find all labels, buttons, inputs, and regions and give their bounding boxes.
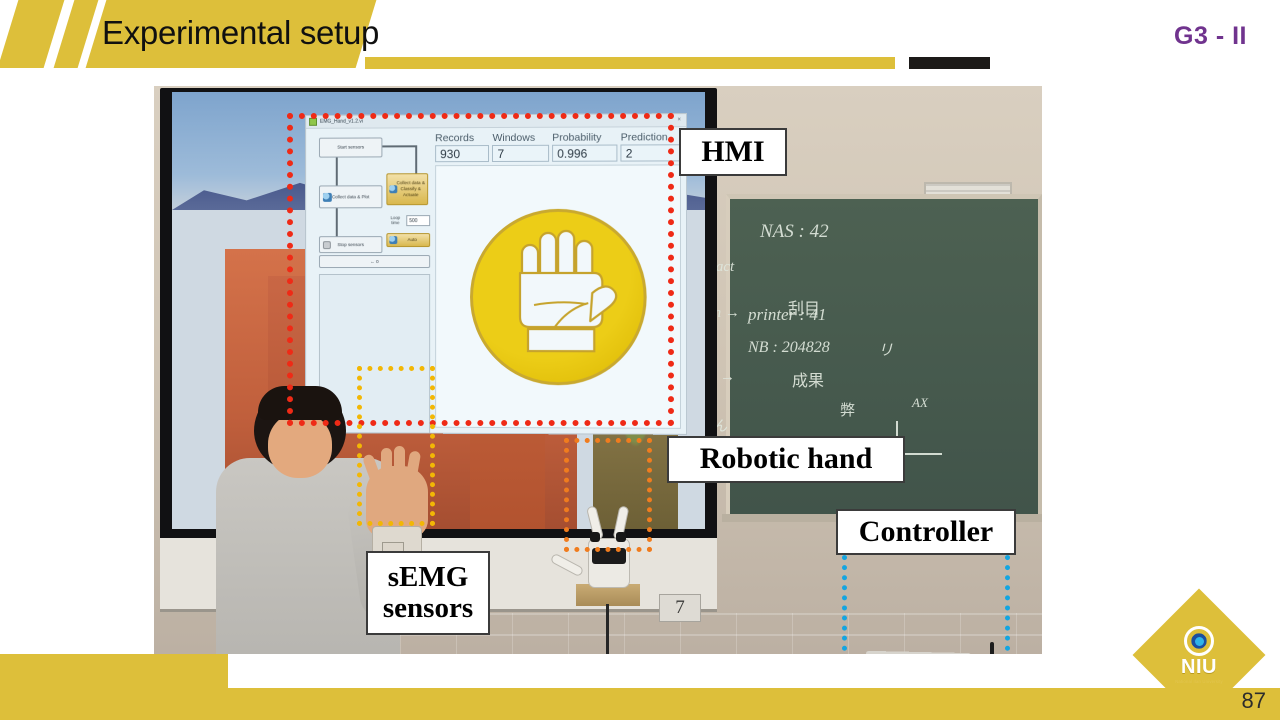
callout-semg-line1: sEMG <box>388 562 469 593</box>
slide-group-tag: G3 - II <box>1174 22 1247 51</box>
niu-logo: NIU National Ilan University <box>1160 616 1238 694</box>
annotation-box-semg <box>357 366 435 526</box>
page-title: Experimental setup <box>102 14 379 52</box>
blackboard-cjk-1: 刮目 <box>788 295 820 319</box>
callout-semg: sEMG sensors <box>366 551 490 635</box>
slide-page-number: 87 <box>1242 688 1266 714</box>
footer-white-notch <box>228 654 1280 688</box>
niu-orbit-icon <box>1184 626 1214 656</box>
blackboard-line-3: NB : 204828 <box>748 339 830 357</box>
header-gold-rule <box>365 57 895 69</box>
callout-hmi: HMI <box>679 128 787 176</box>
blackboard-cjk-2: 成果 <box>792 367 824 391</box>
header-black-rule <box>909 57 990 69</box>
header-accent-shape-1 <box>0 0 64 68</box>
annotation-box-controller <box>842 545 1010 671</box>
blackboard-scribble-6: リ <box>878 339 893 360</box>
annotation-box-hmi <box>287 113 674 426</box>
niu-logo-subtitle: National Ilan University <box>1175 679 1223 684</box>
close-icon[interactable]: × <box>677 117 683 123</box>
blackboard-scribble-3: → <box>720 369 735 386</box>
blackboard-cjk-3: 弊 <box>840 399 855 420</box>
slide-root: Experimental setup G3 - II NAS : 42 prin… <box>0 0 1280 720</box>
callout-controller: Controller <box>836 509 1016 555</box>
callout-robotic-hand: Robotic hand <box>667 436 905 483</box>
blackboard-line-1: NAS : 42 <box>760 221 829 243</box>
blackboard-scribble-5: AX <box>912 395 928 411</box>
cabinet-number-tag: 7 <box>659 594 701 622</box>
callout-semg-line2: sensors <box>383 593 473 624</box>
experimental-setup-photo: NAS : 42 printer : 41 NB : 204828 ract i… <box>154 86 1042 699</box>
footer-gold-block <box>0 654 228 720</box>
annotation-box-robotic <box>564 438 652 552</box>
niu-logo-text: NIU <box>1181 657 1217 677</box>
